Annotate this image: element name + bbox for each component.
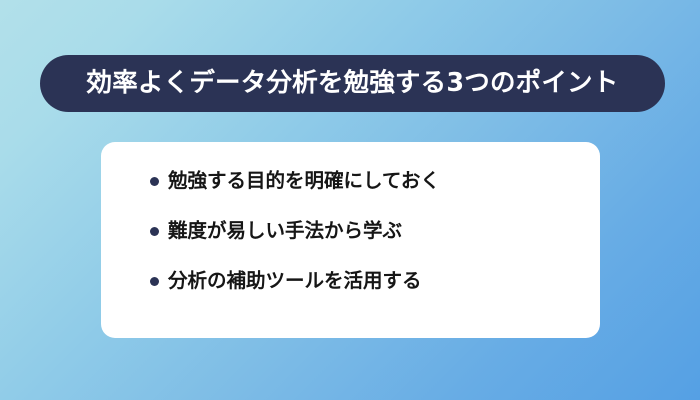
list-item: 分析の補助ツールを活用する <box>150 270 600 292</box>
list-item-label: 分析の補助ツールを活用する <box>168 270 422 292</box>
page-title: 効率よくデータ分析を勉強する3つのポイント <box>87 71 619 97</box>
bullet-dot-icon <box>150 177 159 186</box>
bullet-dot-icon <box>150 227 159 236</box>
bullet-list: 勉強する目的を明確にしておく 難度が易しい手法から学ぶ 分析の補助ツールを活用す… <box>150 170 600 292</box>
list-item-label: 難度が易しい手法から学ぶ <box>168 220 402 242</box>
slide-canvas: 効率よくデータ分析を勉強する3つのポイント 勉強する目的を明確にしておく 難度が… <box>0 0 700 400</box>
list-item: 難度が易しい手法から学ぶ <box>150 220 600 242</box>
bullet-dot-icon <box>150 277 159 286</box>
content-card: 勉強する目的を明確にしておく 難度が易しい手法から学ぶ 分析の補助ツールを活用す… <box>101 142 600 338</box>
title-banner: 効率よくデータ分析を勉強する3つのポイント <box>40 55 665 112</box>
list-item: 勉強する目的を明確にしておく <box>150 170 600 192</box>
list-item-label: 勉強する目的を明確にしておく <box>168 170 440 192</box>
